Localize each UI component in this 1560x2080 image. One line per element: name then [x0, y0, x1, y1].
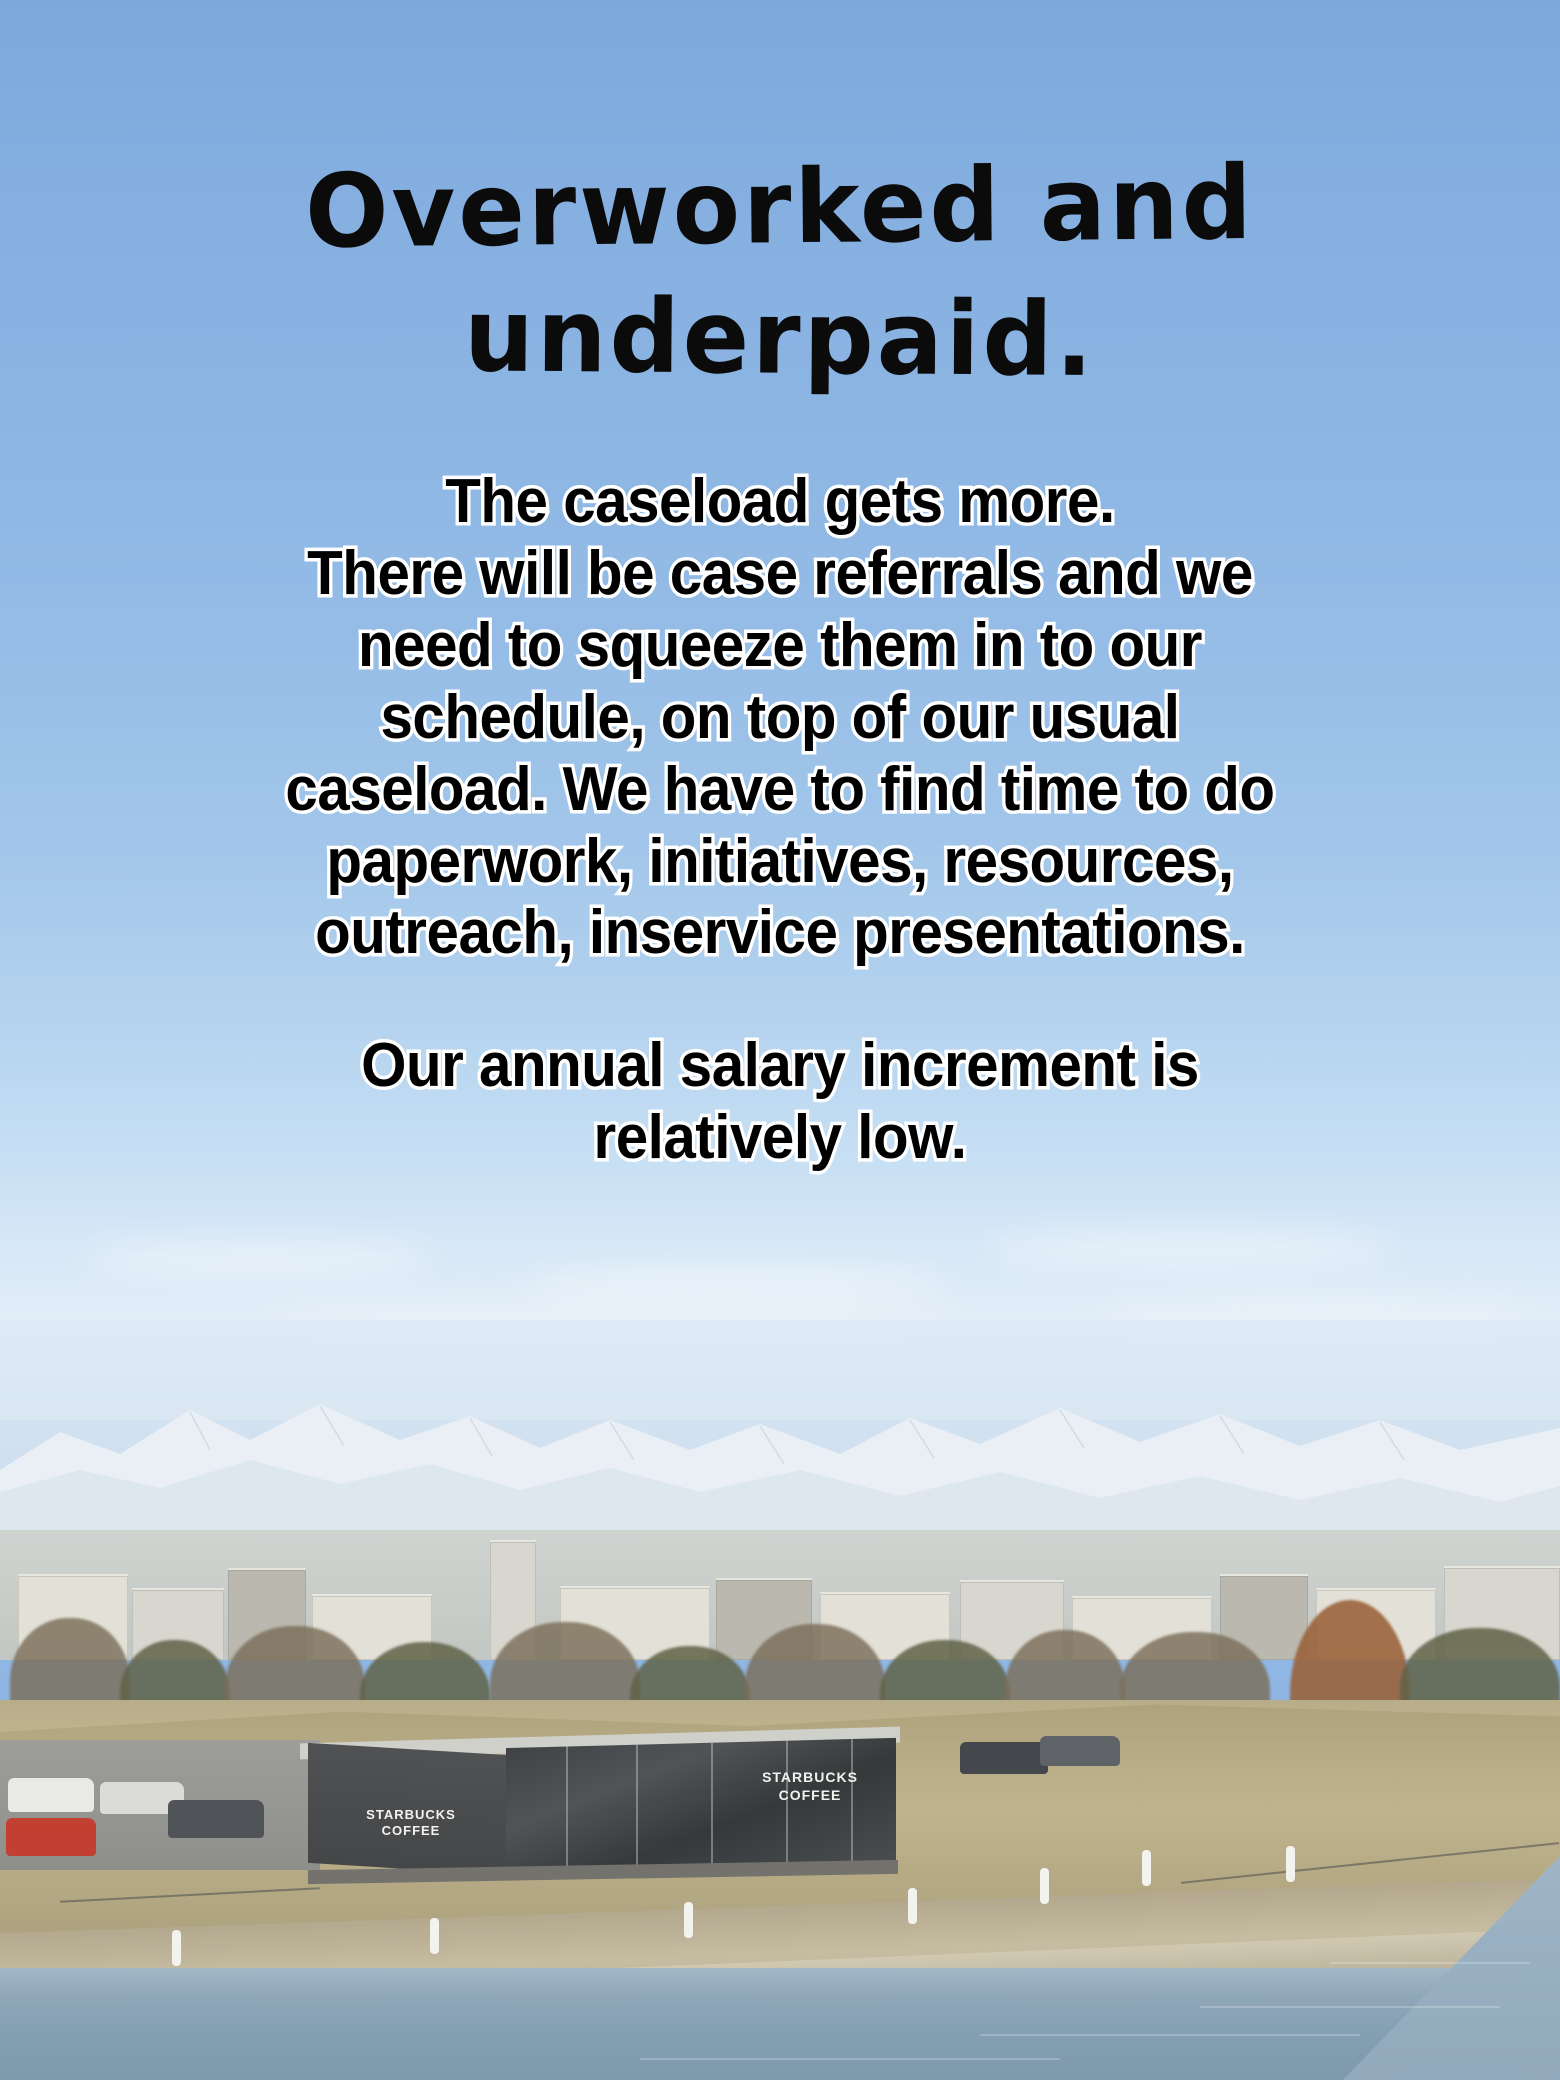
body-line: relatively low. — [47, 1102, 1513, 1174]
headline-line-2: underpaid. — [0, 267, 1560, 409]
body-line: The caseload gets more. — [47, 466, 1513, 538]
body-line: There will be case referrals and we — [47, 538, 1513, 610]
body-paragraph-2: Our annual salary increment is relativel… — [47, 1030, 1513, 1174]
body-line: paperwork, initiatives, resources, — [47, 826, 1513, 898]
headline: Overworked and underpaid. — [0, 143, 1560, 403]
headline-line-1: Overworked and — [0, 135, 1560, 280]
body-paragraph-1: The caseload gets more. There will be ca… — [47, 466, 1513, 969]
body-line: outreach, inservice presentations. — [47, 897, 1513, 969]
body-line: Our annual salary increment is — [47, 1030, 1513, 1102]
body-line: need to squeeze them in to our — [47, 610, 1513, 682]
body-line: schedule, on top of our usual — [47, 682, 1513, 754]
body-line: caseload. We have to find time to do — [47, 754, 1513, 826]
poster-canvas: STARBUCKS COFFEE STARBUCKS COFFEE — [0, 0, 1560, 2080]
text-overlay: Overworked and underpaid. The caseload g… — [0, 0, 1560, 2080]
